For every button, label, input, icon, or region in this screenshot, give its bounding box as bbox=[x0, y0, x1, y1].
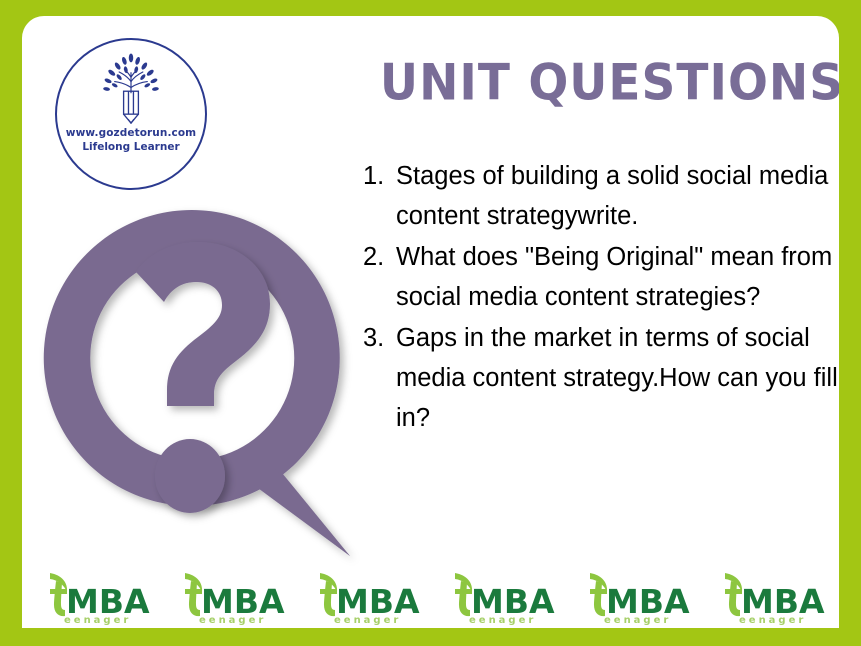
tmba-logo: MBA eenager bbox=[709, 569, 827, 625]
slide-root: www.gozdetorun.com Lifelong Learner UNIT… bbox=[0, 0, 861, 646]
tmba-logo: MBA eenager bbox=[304, 569, 422, 625]
list-item: 2. What does "Being Original" mean from … bbox=[363, 237, 839, 317]
list-item-number: 3. bbox=[363, 318, 384, 358]
footer-logo-strip: MBA eenager MBA eenager MBA eenager bbox=[22, 566, 839, 628]
svg-text:eenager: eenager bbox=[739, 615, 806, 625]
question-mark-speech-bubble-icon bbox=[32, 204, 372, 574]
question-list: 1. Stages of building a solid social med… bbox=[363, 156, 839, 439]
brand-logo: www.gozdetorun.com Lifelong Learner bbox=[55, 38, 207, 190]
tmba-logo: MBA eenager bbox=[574, 569, 692, 625]
svg-text:eenager: eenager bbox=[334, 615, 401, 625]
brand-tagline: Lifelong Learner bbox=[82, 141, 179, 153]
tmba-logo: MBA eenager bbox=[34, 569, 152, 625]
list-item-text: What does "Being Original" mean from soc… bbox=[396, 243, 832, 311]
list-item-text: Gaps in the market in terms of social me… bbox=[396, 324, 838, 432]
list-item-number: 1. bbox=[363, 156, 384, 196]
page-title: UNIT QUESTIONS bbox=[377, 58, 839, 108]
tmba-logo: MBA eenager bbox=[169, 569, 287, 625]
footer-green-bar bbox=[0, 628, 861, 646]
svg-text:eenager: eenager bbox=[604, 615, 671, 625]
pencil-tree-icon bbox=[94, 52, 168, 126]
svg-text:eenager: eenager bbox=[64, 615, 131, 625]
svg-text:eenager: eenager bbox=[199, 615, 266, 625]
list-item: 1. Stages of building a solid social med… bbox=[363, 156, 839, 236]
list-item-text: Stages of building a solid social media … bbox=[396, 162, 828, 230]
slide-canvas: www.gozdetorun.com Lifelong Learner UNIT… bbox=[22, 16, 839, 628]
tmba-logo: MBA eenager bbox=[439, 569, 557, 625]
brand-url: www.gozdetorun.com bbox=[66, 127, 196, 139]
list-item-number: 2. bbox=[363, 237, 384, 277]
svg-text:eenager: eenager bbox=[469, 615, 536, 625]
list-item: 3. Gaps in the market in terms of social… bbox=[363, 318, 839, 438]
